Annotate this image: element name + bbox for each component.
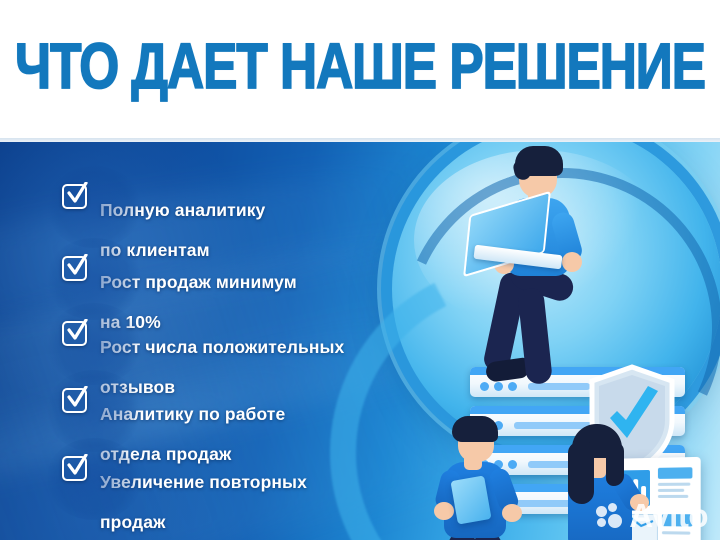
man-with-laptop bbox=[470, 142, 610, 402]
checkbox-checked-icon[interactable] bbox=[62, 321, 87, 346]
benefit-line-1: Аналитику по работе bbox=[100, 404, 285, 424]
benefit-line-2: продаж bbox=[100, 512, 166, 532]
man-with-tablet bbox=[432, 422, 552, 540]
benefit-item-5[interactable]: Увеличение повторных продаж bbox=[62, 452, 307, 532]
avito-watermark: Avito bbox=[596, 499, 708, 532]
benefit-line-1: Рост продаж минимум bbox=[100, 272, 297, 292]
header-banner: ЧТО ДАЕТ НАШЕ РЕШЕНИЕ bbox=[0, 0, 720, 142]
benefit-label: Полную аналитику по клиентам bbox=[100, 180, 265, 260]
benefit-line-1: Увеличение повторных bbox=[100, 472, 307, 492]
benefit-label: Увеличение повторных продаж bbox=[100, 452, 307, 532]
poster: ЧТО ДАЕТ НАШЕ РЕШЕНИЕ bbox=[0, 0, 720, 540]
checkbox-checked-icon[interactable] bbox=[62, 184, 87, 209]
benefit-line-1: Полную аналитику bbox=[100, 200, 265, 220]
page-title: ЧТО ДАЕТ НАШЕ РЕШЕНИЕ bbox=[15, 29, 705, 103]
benefits-list: Полную аналитику по клиентам Рост продаж… bbox=[0, 142, 430, 540]
checkbox-checked-icon[interactable] bbox=[62, 256, 87, 281]
avito-brand-text: Avito bbox=[629, 499, 708, 532]
avito-dots-logo-icon bbox=[596, 503, 624, 529]
tablet-icon bbox=[450, 475, 491, 524]
checkbox-checked-icon[interactable] bbox=[62, 456, 87, 481]
benefit-line-1: Рост числа положительных bbox=[100, 337, 344, 357]
benefit-item-1[interactable]: Полную аналитику по клиентам bbox=[62, 180, 265, 260]
checkbox-checked-icon[interactable] bbox=[62, 388, 87, 413]
